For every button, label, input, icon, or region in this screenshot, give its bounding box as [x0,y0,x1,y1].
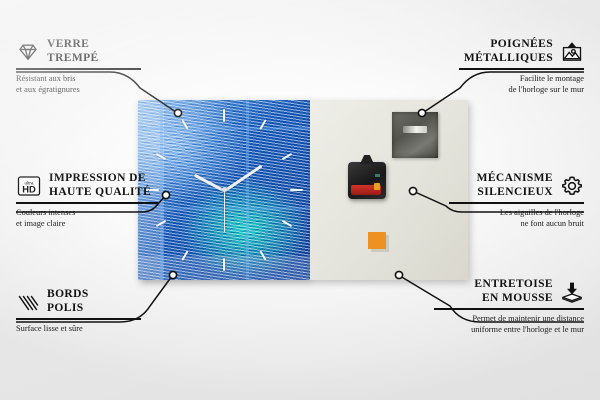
callout-title-line1: IMPRESSION DE [49,172,146,184]
clock-front-panel [138,100,310,280]
callout-mecanisme-silencieux: MÉCANISME SILENCIEUX Les aiguilles de l'… [449,172,584,229]
clock-tick [290,189,303,191]
callout-desc-line2: et image claire [16,219,65,228]
callout-title-line1: VERRE [47,38,89,50]
product-photo [138,100,468,280]
clock-tick [223,109,225,122]
diamond-icon [16,40,40,64]
callout-divider [16,318,141,319]
callout-title-line2: SILENCIEUX [477,186,553,198]
callout-desc-line1: Résistant aux bris [16,74,76,83]
clock-hand-hub [222,187,227,192]
callout-desc-line2: de l'horloge sur le mur [509,85,584,94]
clock-tick [223,258,225,271]
battery-terminal [374,183,380,190]
wall-hanging-icon [560,40,584,64]
callout-title-line2: MÉTALLIQUES [464,52,553,64]
callout-title-line2: HAUTE QUALITÉ [49,186,151,198]
hanger-slot [403,126,427,133]
polished-edges-icon [16,290,40,314]
battery [351,185,381,195]
callout-title-line1: POIGNÉES [490,38,553,50]
quartz-mechanism [348,162,386,199]
callout-desc-line1: Facilite le montage [520,74,584,83]
metal-hanger-plate [392,112,438,158]
callout-title-line1: MÉCANISME [477,172,553,184]
callout-desc-line2: uniforme entre l'horloge et le mur [471,325,584,334]
callout-divider [449,202,584,203]
foam-spacer [368,232,386,249]
callout-divider [16,68,141,69]
callout-desc-line1: Surface lisse et sûre [16,324,83,333]
callout-poignees-metalliques: POIGNÉES MÉTALLIQUES Facilite le montage… [459,38,584,95]
callout-title-line1: BORDS [47,288,89,300]
callout-entretoise-en-mousse: ENTRETOISE EN MOUSSE Permet de maintenir… [434,278,584,335]
callout-impression-haute-qualite: ultra HD IMPRESSION DE HAUTE QUALITÉ Cou… [16,172,158,229]
mechanism-label [375,174,380,177]
callout-desc-line1: Couleurs intenses [16,208,75,217]
gear-icon [560,174,584,198]
mechanism-hook [360,155,374,164]
callout-divider [459,68,584,69]
callout-title-line2: TREMPÉ [47,52,99,64]
callout-bords-polis: BORDS POLIS Surface lisse et sûre [16,288,141,334]
ultra-hd-icon-large-text: HD [22,183,36,194]
callout-divider [16,202,158,203]
callout-verre-trempe: VERRE TREMPÉ Résistant aux bris et aux é… [16,38,141,95]
callout-desc-line1: Les aiguilles de l'horloge [500,208,584,217]
infographic-canvas: VERRE TREMPÉ Résistant aux bris et aux é… [0,0,600,400]
callout-desc-line2: ne font aucun bruit [521,219,585,228]
callout-divider [434,308,584,309]
ultra-hd-icon: ultra HD [16,173,42,199]
callout-desc-line1: Permet de maintenir une distance [472,314,584,323]
foam-spacer-icon [560,280,584,304]
clock-back-panel [310,100,468,280]
callout-title-line1: ENTRETOISE [474,278,553,290]
callout-desc-line2: et aux égratignures [16,85,80,94]
callout-title-line2: POLIS [47,302,84,314]
callout-title-line2: EN MOUSSE [482,292,553,304]
